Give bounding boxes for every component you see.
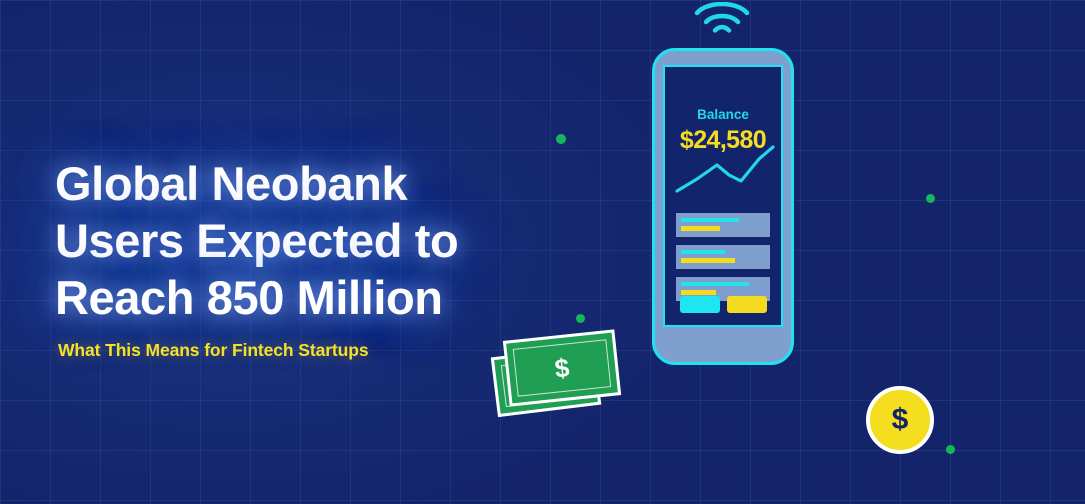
dollar-sign-icon: $ <box>892 405 909 435</box>
decorative-dot <box>576 314 585 323</box>
transaction-row[interactable] <box>676 213 770 237</box>
transaction-title-bar <box>681 282 749 286</box>
balance-label: Balance <box>665 107 781 122</box>
secondary-action-button[interactable] <box>727 296 767 313</box>
coin-illustration: $ <box>866 386 934 454</box>
sparkline-chart <box>673 145 777 197</box>
decorative-dot <box>556 134 566 144</box>
transaction-amount-bar <box>681 226 720 231</box>
transaction-list <box>676 213 770 309</box>
transaction-title-bar <box>681 250 725 254</box>
decorative-dot <box>946 445 955 454</box>
infographic-canvas: Global Neobank Users Expected to Reach 8… <box>0 0 1085 504</box>
wifi-icon <box>693 2 751 36</box>
banknotes-illustration: $ <box>492 325 622 420</box>
transaction-title-bar <box>681 218 739 222</box>
transaction-amount-bar <box>681 290 716 295</box>
phone-screen: Balance $24,580 <box>663 65 783 327</box>
transaction-row[interactable] <box>676 245 770 269</box>
page-title: Global Neobank Users Expected to Reach 8… <box>55 155 575 326</box>
decorative-dot <box>926 194 935 203</box>
dollar-sign-icon: $ <box>506 333 618 404</box>
banknote-front: $ <box>503 329 621 406</box>
action-button-group <box>665 296 781 313</box>
transaction-amount-bar <box>681 258 735 263</box>
primary-action-button[interactable] <box>680 296 720 313</box>
phone-mockup: Balance $24,580 <box>652 48 794 365</box>
